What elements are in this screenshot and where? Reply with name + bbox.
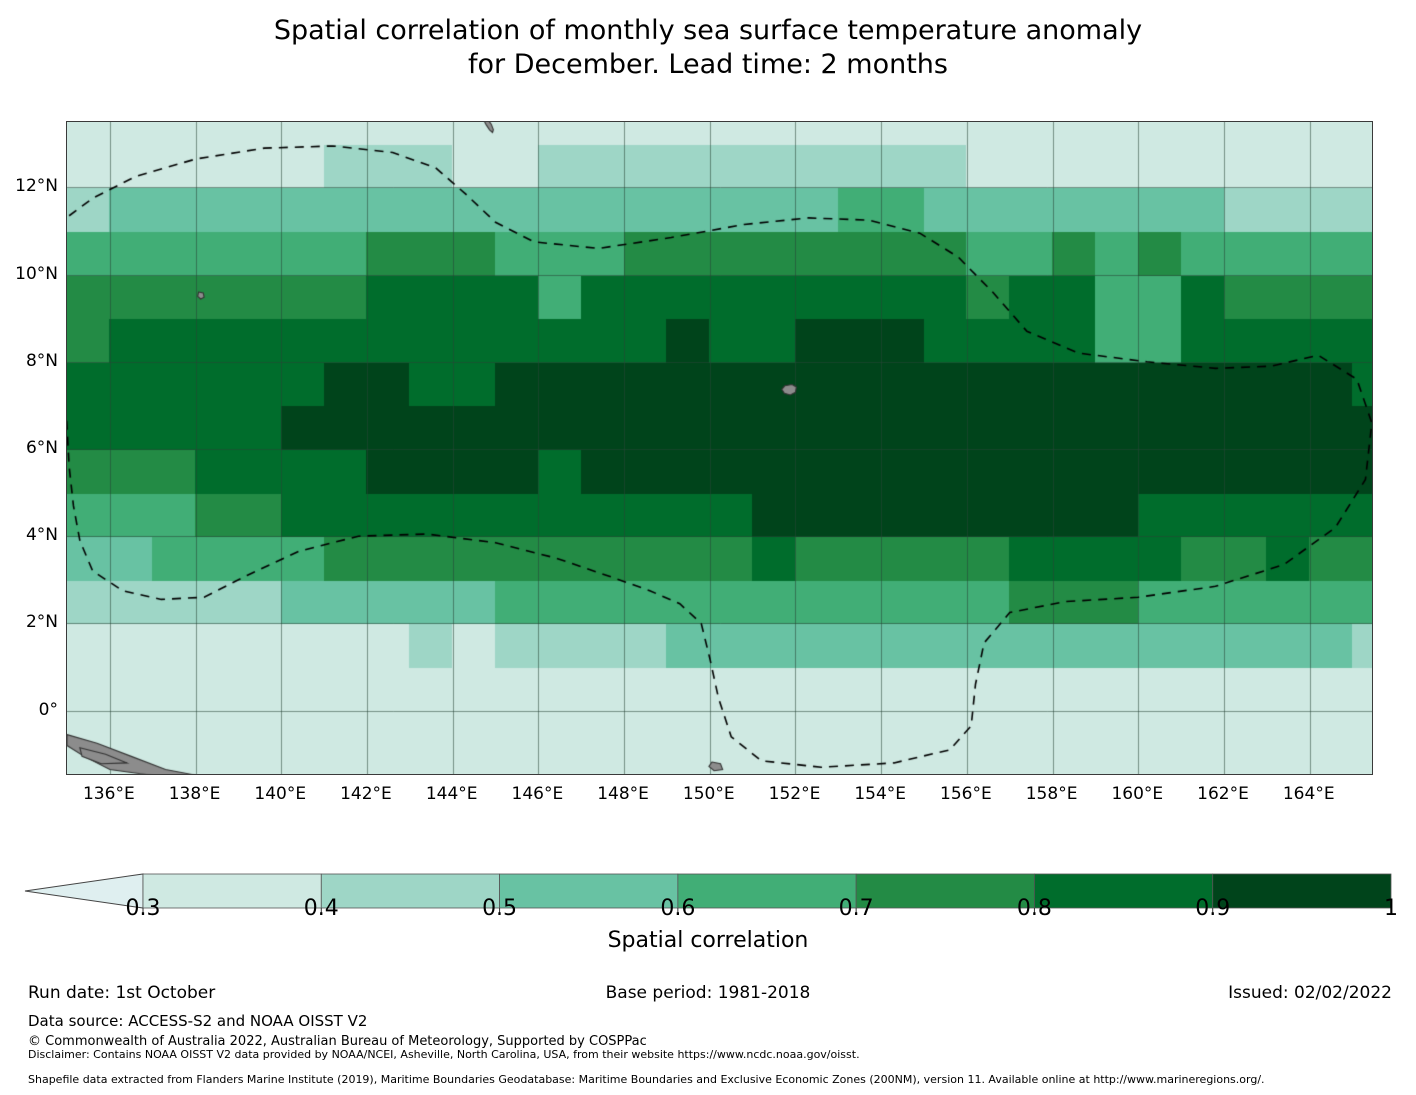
correlation-heatmap-canvas bbox=[67, 122, 1373, 775]
y-tick-label: 4°N bbox=[0, 525, 58, 545]
x-tick-label: 164°E bbox=[1283, 784, 1335, 804]
x-tick-label: 148°E bbox=[597, 784, 649, 804]
correlation-map[interactable] bbox=[66, 121, 1373, 775]
y-tick-label: 2°N bbox=[0, 612, 58, 632]
data-source-text: Data source: ACCESS-S2 and NOAA OISST V2 bbox=[28, 1012, 367, 1030]
base-period-text: Base period: 1981-2018 bbox=[0, 983, 1416, 1003]
y-tick-label: 10°N bbox=[0, 264, 58, 284]
colorbar-tick-label: 0.6 bbox=[660, 896, 695, 921]
y-tick-label: 8°N bbox=[0, 351, 58, 371]
colorbar-tick-label: 0.9 bbox=[1195, 896, 1230, 921]
colorbar-swatch bbox=[143, 874, 321, 908]
copyright-text: © Commonwealth of Australia 2022, Austra… bbox=[28, 1034, 647, 1049]
disclaimer-text: Disclaimer: Contains NOAA OISST V2 data … bbox=[28, 1048, 860, 1061]
colorbar-tick-label: 0.7 bbox=[839, 896, 874, 921]
colorbar-tick-label: 0.8 bbox=[1017, 896, 1052, 921]
colorbar-swatch bbox=[500, 874, 678, 908]
x-tick-label: 160°E bbox=[1111, 784, 1163, 804]
y-tick-label: 0° bbox=[0, 700, 58, 720]
x-tick-label: 138°E bbox=[169, 784, 221, 804]
x-tick-label: 146°E bbox=[512, 784, 564, 804]
colorbar-swatch bbox=[678, 874, 856, 908]
x-tick-label: 158°E bbox=[1026, 784, 1078, 804]
x-tick-label: 152°E bbox=[769, 784, 821, 804]
footer-top-row: Run date: 1st October Base period: 1981-… bbox=[0, 983, 1416, 1007]
page-title: Spatial correlation of monthly sea surfa… bbox=[0, 14, 1416, 82]
issued-date-text: Issued: 02/02/2022 bbox=[1228, 983, 1392, 1003]
x-tick-label: 162°E bbox=[1197, 784, 1249, 804]
x-tick-label: 150°E bbox=[683, 784, 735, 804]
colorbar-swatch bbox=[1213, 874, 1391, 908]
colorbar-tick-label: 0.3 bbox=[126, 896, 161, 921]
x-tick-label: 140°E bbox=[254, 784, 306, 804]
colorbar-axis-label: Spatial correlation bbox=[0, 928, 1416, 953]
y-tick-label: 6°N bbox=[0, 438, 58, 458]
x-tick-label: 156°E bbox=[940, 784, 992, 804]
x-tick-label: 144°E bbox=[426, 784, 478, 804]
shapefile-attribution-text: Shapefile data extracted from Flanders M… bbox=[28, 1073, 1265, 1086]
x-tick-label: 136°E bbox=[83, 784, 135, 804]
x-tick-label: 142°E bbox=[340, 784, 392, 804]
colorbar-swatch bbox=[856, 874, 1034, 908]
title-line-1: Spatial correlation of monthly sea surfa… bbox=[0, 14, 1416, 48]
colorbar-swatch bbox=[1034, 874, 1212, 908]
colorbar-tick-label: 1 bbox=[1384, 896, 1398, 921]
title-line-2: for December. Lead time: 2 months bbox=[0, 48, 1416, 82]
x-tick-label: 154°E bbox=[854, 784, 906, 804]
colorbar-swatch bbox=[321, 874, 499, 908]
colorbar-tick-label: 0.5 bbox=[482, 896, 517, 921]
colorbar-tick-label: 0.4 bbox=[304, 896, 339, 921]
y-tick-label: 12°N bbox=[0, 176, 58, 196]
